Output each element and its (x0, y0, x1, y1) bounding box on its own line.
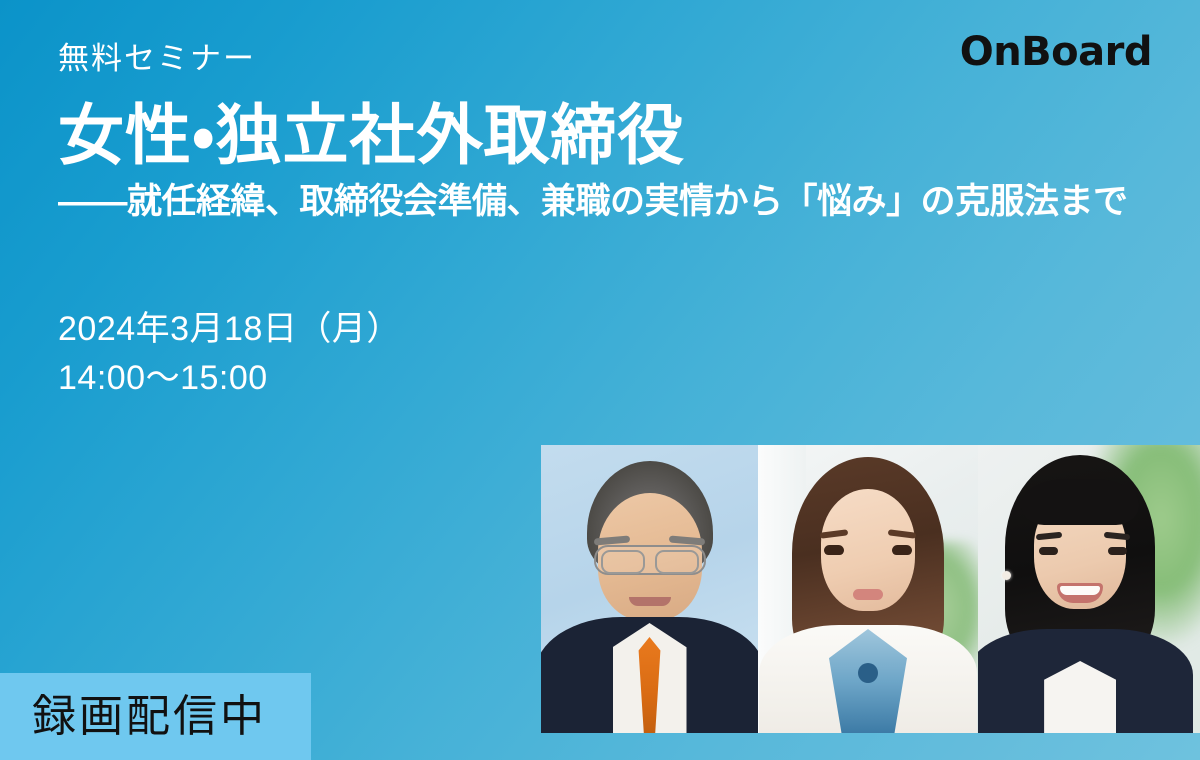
page-subtitle: ――就任経緯、取締役会準備、兼職の実情から「悩み」の克服法まで (58, 181, 1148, 223)
status-badge-label: 録画配信中 (32, 695, 267, 739)
speaker-1-mouth (629, 597, 671, 606)
speaker-3-earring (1002, 571, 1011, 580)
page-title: 女性・独立社外取締役 (58, 99, 1148, 173)
headline-block: 無料セミナー 女性・独立社外取締役 ――就任経緯、取締役会準備、兼職の実情から「… (58, 40, 1148, 223)
speaker-photo-strip (541, 445, 1200, 733)
event-time: 14:00〜15:00 (58, 354, 401, 403)
schedule-block: 2024年3月18日（月） 14:00〜15:00 (58, 305, 401, 404)
speaker-1-glasses (594, 545, 706, 575)
seminar-banner: OnBoard 無料セミナー 女性・独立社外取締役 ――就任経緯、取締役会準備、… (0, 0, 1200, 760)
eyebrow-label: 無料セミナー (58, 40, 1148, 77)
speaker-2-lips (853, 589, 883, 600)
speaker-3-eye-left (1039, 547, 1058, 555)
speaker-2-eye-left (824, 545, 844, 555)
speaker-3-eye-right (1108, 547, 1127, 555)
speaker-2-eye-right (892, 545, 912, 555)
status-badge: 録画配信中 (0, 673, 311, 760)
event-date: 2024年3月18日（月） (58, 305, 401, 354)
speaker-3-fringe (1021, 479, 1139, 525)
speaker-photo-2 (758, 445, 978, 733)
speaker-photo-1 (541, 445, 758, 733)
speaker-photo-3 (978, 445, 1200, 733)
speaker-3-smile (1057, 583, 1103, 603)
